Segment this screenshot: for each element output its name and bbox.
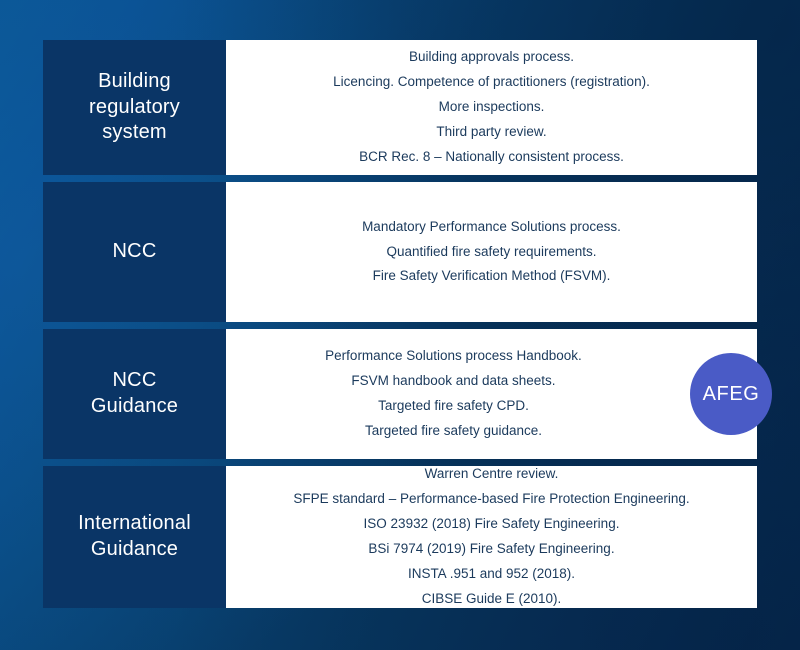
row-label-line: Guidance (91, 395, 178, 417)
row-label-ncc: NCC (43, 182, 226, 322)
row-label-line: International (78, 512, 191, 534)
panel-line: SFPE standard – Performance-based Fire P… (293, 487, 689, 512)
afeg-badge: AFEG (690, 353, 772, 435)
row-panel-building-regulatory-system: Building approvals process. Licencing. C… (226, 40, 757, 175)
row-label-building-regulatory-system: Building regulatory system (43, 40, 226, 175)
framework-row-building-regulatory-system: Building regulatory system Building appr… (43, 40, 757, 175)
row-label-line: NCC (113, 240, 157, 262)
row-label-ncc-guidance: NCC Guidance (43, 329, 226, 459)
row-label-line: regulatory (89, 96, 180, 118)
row-label-line: system (102, 121, 167, 143)
panel-line: Third party review. (436, 120, 546, 145)
panel-line: Fire Safety Verification Method (FSVM). (373, 264, 611, 289)
panel-line: Targeted fire safety guidance. (365, 419, 542, 444)
panel-line: CIBSE Guide E (2010). (422, 587, 562, 612)
panel-line: Performance Solutions process Handbook. (325, 344, 582, 369)
panel-line: FSVM handbook and data sheets. (351, 369, 555, 394)
framework-row-ncc-guidance: NCC Guidance Performance Solutions proce… (43, 329, 757, 459)
row-label-international-guidance: International Guidance (43, 466, 226, 608)
panel-line: Quantified fire safety requirements. (386, 240, 596, 265)
row-panel-ncc: Mandatory Performance Solutions process.… (226, 182, 757, 322)
panel-line: Licencing. Competence of practitioners (… (333, 70, 650, 95)
panel-line: Building approvals process. (409, 45, 574, 70)
panel-line: Targeted fire safety CPD. (378, 394, 529, 419)
panel-line: Warren Centre review. (425, 462, 559, 487)
framework-row-international-guidance: International Guidance Warren Centre rev… (43, 466, 757, 608)
row-label-line: NCC (113, 369, 157, 391)
row-label-line: Building (98, 70, 171, 92)
row-panel-ncc-guidance: Performance Solutions process Handbook. … (226, 329, 757, 459)
panel-line: BCR Rec. 8 – Nationally consistent proce… (359, 145, 624, 170)
row-label-line: Guidance (91, 538, 178, 560)
panel-line: ISO 23932 (2018) Fire Safety Engineering… (364, 512, 620, 537)
row-panel-international-guidance: Warren Centre review. SFPE standard – Pe… (226, 466, 757, 608)
framework-row-ncc: NCC Mandatory Performance Solutions proc… (43, 182, 757, 322)
panel-line: Mandatory Performance Solutions process. (362, 215, 621, 240)
diagram-canvas: Building regulatory system Building appr… (0, 0, 800, 650)
afeg-badge-label: AFEG (703, 383, 760, 406)
panel-line: More inspections. (439, 95, 545, 120)
panel-line: BSi 7974 (2019) Fire Safety Engineering. (368, 537, 614, 562)
panel-line: INSTA .951 and 952 (2018). (408, 562, 575, 587)
framework-rows: Building regulatory system Building appr… (43, 40, 757, 608)
